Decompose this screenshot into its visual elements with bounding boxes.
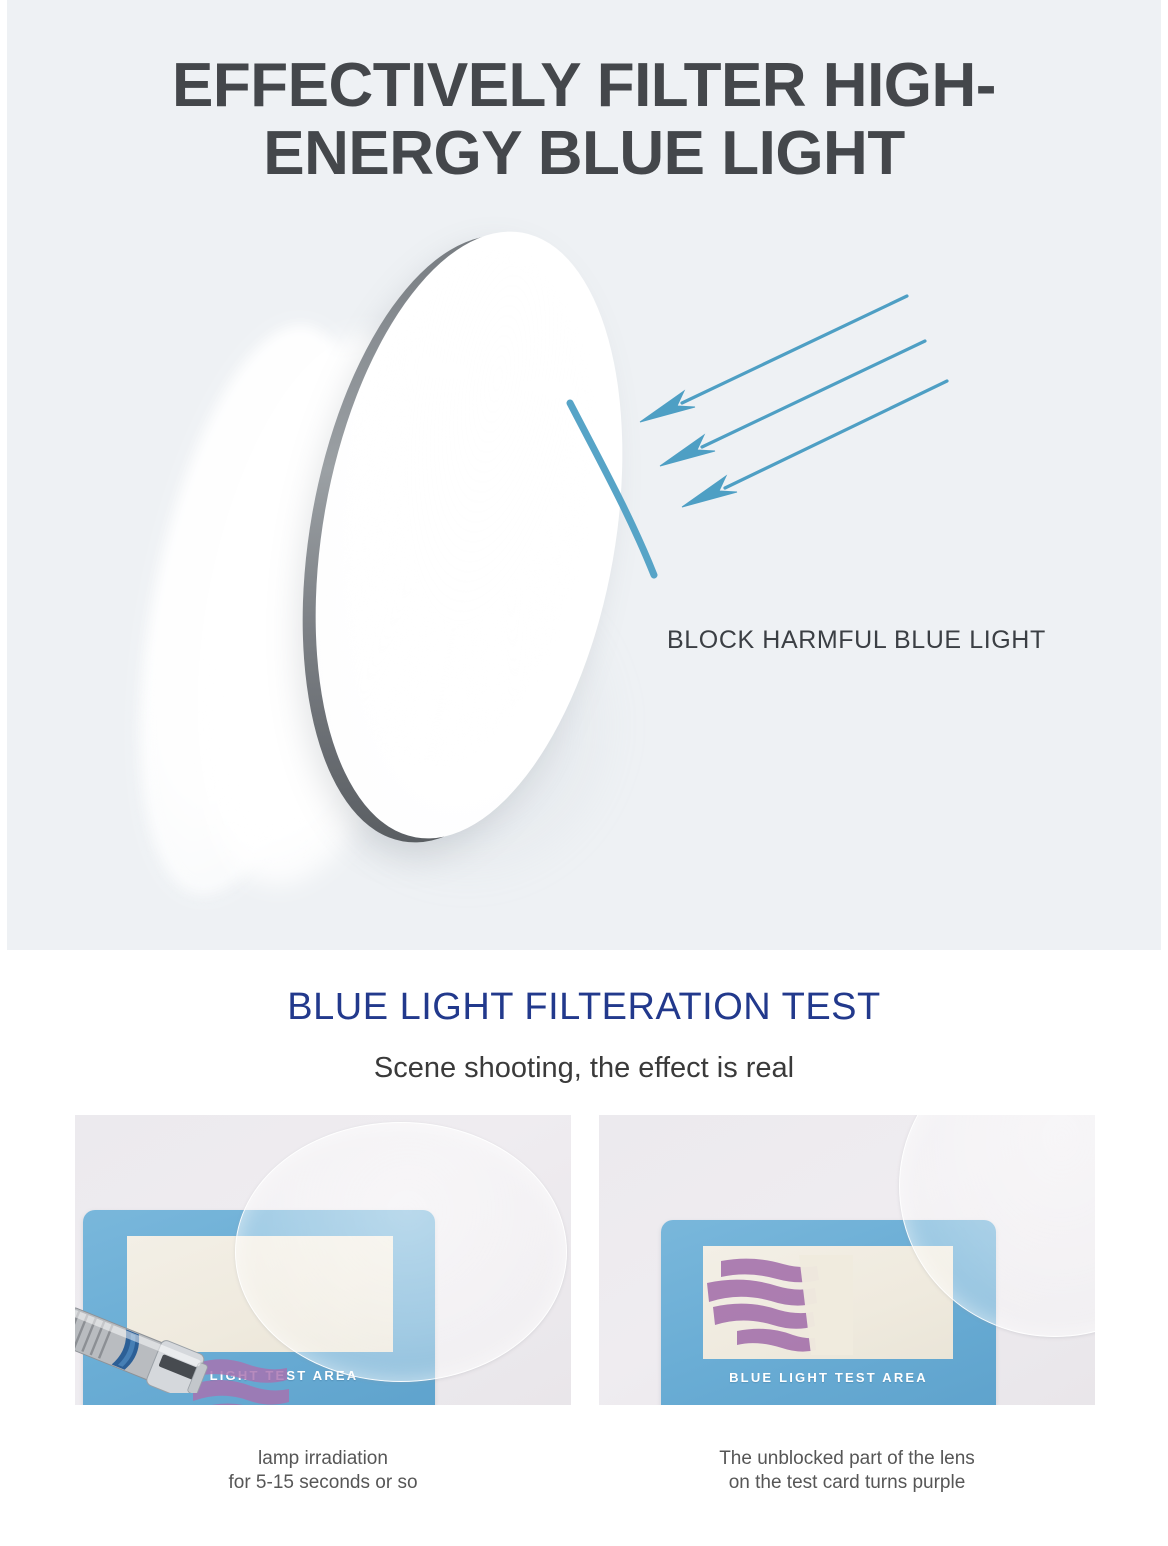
photo-caption-left: lamp irradiation for 5-15 seconds or so (75, 1447, 571, 1495)
page-title: EFFECTIVELY FILTER HIGH- ENERGY BLUE LIG… (7, 52, 1161, 188)
filteration-test-section: BLUE LIGHT FILTERATION TEST Scene shooti… (0, 950, 1168, 1546)
transparent-lens-overlay (235, 1122, 567, 1382)
test-photo-left: BLUE LIGHT TEST AREA (75, 1115, 571, 1405)
test-photo-row: BLUE LIGHT TEST AREA (75, 1115, 1095, 1405)
test-photo-right: BLUE LIGHT TEST AREA (599, 1115, 1095, 1405)
test-section-subtitle: Scene shooting, the effect is real (0, 1052, 1168, 1085)
uv-flashlight (75, 1293, 245, 1393)
hero-section: EFFECTIVELY FILTER HIGH- ENERGY BLUE LIG… (7, 0, 1161, 950)
photo-caption-row: lamp irradiation for 5-15 seconds or so … (75, 1447, 1095, 1495)
purple-ink-streaks (703, 1255, 853, 1355)
blue-light-arrows (562, 275, 1002, 605)
test-section-title: BLUE LIGHT FILTERATION TEST (0, 986, 1168, 1029)
test-card-label: BLUE LIGHT TEST AREA (661, 1370, 996, 1385)
block-harmful-blue-light-label: BLOCK HARMFUL BLUE LIGHT (667, 626, 1046, 655)
photo-caption-right: The unblocked part of the lens on the te… (599, 1447, 1095, 1495)
